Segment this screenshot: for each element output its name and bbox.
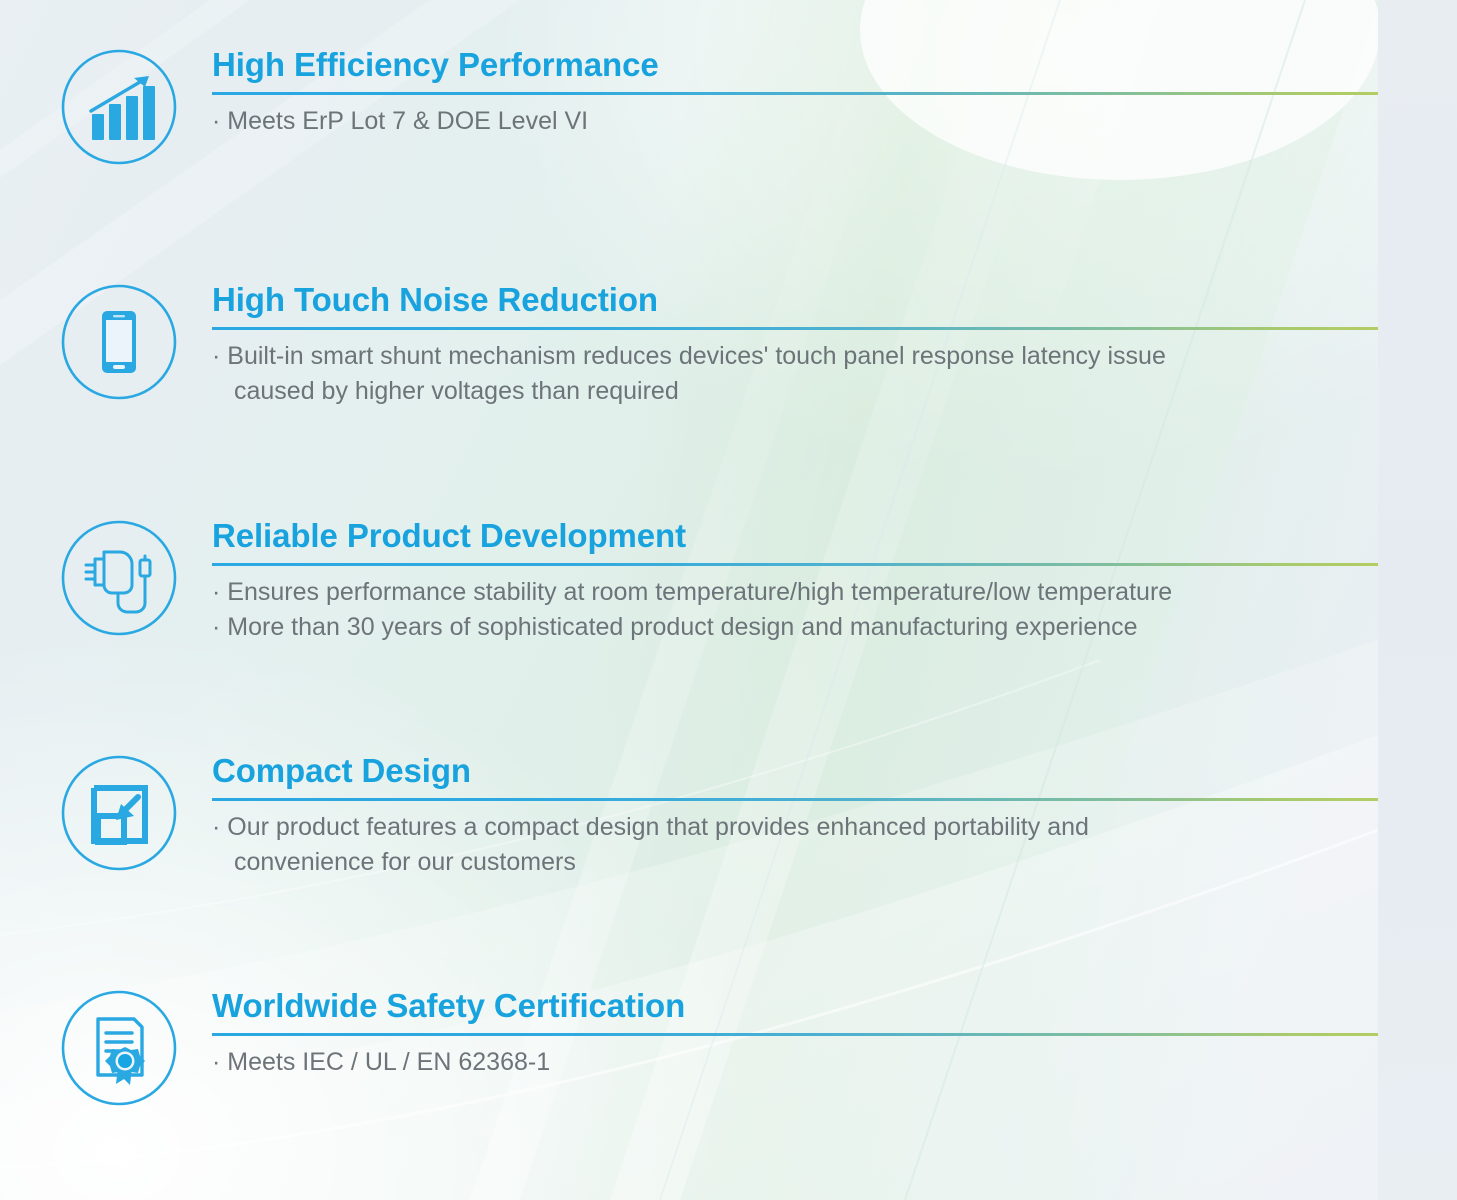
bullet-text: More than 30 years of sophisticated prod… — [227, 613, 1137, 641]
growth-chart-icon — [60, 48, 178, 166]
feature-content: Reliable Product Development · Ensures p… — [212, 519, 1378, 646]
feature-title: Worldwide Safety Certification — [212, 989, 1378, 1024]
bullet-text: convenience for our customers — [234, 848, 576, 876]
bullet-marker: · — [212, 578, 220, 606]
bullet-text: Built-in smart shunt mechanism reduces d… — [227, 342, 1166, 370]
feature-divider — [212, 92, 1378, 95]
bullet-marker: · — [212, 342, 220, 370]
feature-bullet-line: · More than 30 years of sophisticated pr… — [212, 610, 1378, 646]
feature-title: High Touch Noise Reduction — [212, 283, 1378, 318]
bullet-marker: · — [212, 613, 220, 641]
feature-content: Compact Design · Our product features a … — [212, 754, 1378, 881]
bullet-text: Ensures performance stability at room te… — [227, 578, 1172, 606]
feature-bullets: · Ensures performance stability at room … — [212, 575, 1378, 646]
feature-title: Reliable Product Development — [212, 519, 1378, 554]
feature-content: Worldwide Safety Certification · Meets I… — [212, 989, 1378, 1080]
compact-resize-icon — [60, 754, 178, 872]
feature-divider — [212, 798, 1378, 801]
feature-list: High Efficiency Performance · Meets ErP … — [0, 0, 1457, 1200]
feature-bullets: · Our product features a compact design … — [212, 810, 1378, 881]
feature-bullet-line: caused by higher voltages than required — [212, 374, 1378, 410]
feature-bullets: · Built-in smart shunt mechanism reduces… — [212, 339, 1378, 410]
feature-divider — [212, 1033, 1378, 1036]
smartphone-icon — [60, 283, 178, 401]
feature-content: High Efficiency Performance · Meets ErP … — [212, 48, 1378, 139]
bullet-marker: · — [212, 813, 220, 841]
feature-highlights-page: High Efficiency Performance · Meets ErP … — [0, 0, 1457, 1200]
feature-bullets: · Meets IEC / UL / EN 62368-1 — [212, 1045, 1378, 1081]
bullet-text: caused by higher voltages than required — [234, 377, 679, 405]
feature-bullet-line: convenience for our customers — [212, 845, 1378, 881]
feature-bullet-line: · Meets IEC / UL / EN 62368-1 — [212, 1045, 1378, 1081]
feature-bullet-line: · Our product features a compact design … — [212, 810, 1378, 846]
certificate-icon — [60, 989, 178, 1107]
feature-content: High Touch Noise Reduction · Built-in sm… — [212, 283, 1378, 410]
feature-divider — [212, 563, 1378, 566]
feature-bullets: · Meets ErP Lot 7 & DOE Level VI — [212, 104, 1378, 140]
bullet-marker: · — [212, 1048, 220, 1076]
power-adapter-icon — [60, 519, 178, 637]
feature-bullet-line: · Ensures performance stability at room … — [212, 575, 1378, 611]
feature-divider — [212, 327, 1378, 330]
bullet-text: Meets IEC / UL / EN 62368-1 — [227, 1048, 550, 1076]
feature-bullet-line: · Meets ErP Lot 7 & DOE Level VI — [212, 104, 1378, 140]
bullet-text: Meets ErP Lot 7 & DOE Level VI — [227, 107, 588, 135]
bullet-text: Our product features a compact design th… — [227, 813, 1089, 841]
feature-title: High Efficiency Performance — [212, 48, 1378, 83]
feature-bullet-line: · Built-in smart shunt mechanism reduces… — [212, 339, 1378, 375]
feature-title: Compact Design — [212, 754, 1378, 789]
bullet-marker: · — [212, 107, 220, 135]
